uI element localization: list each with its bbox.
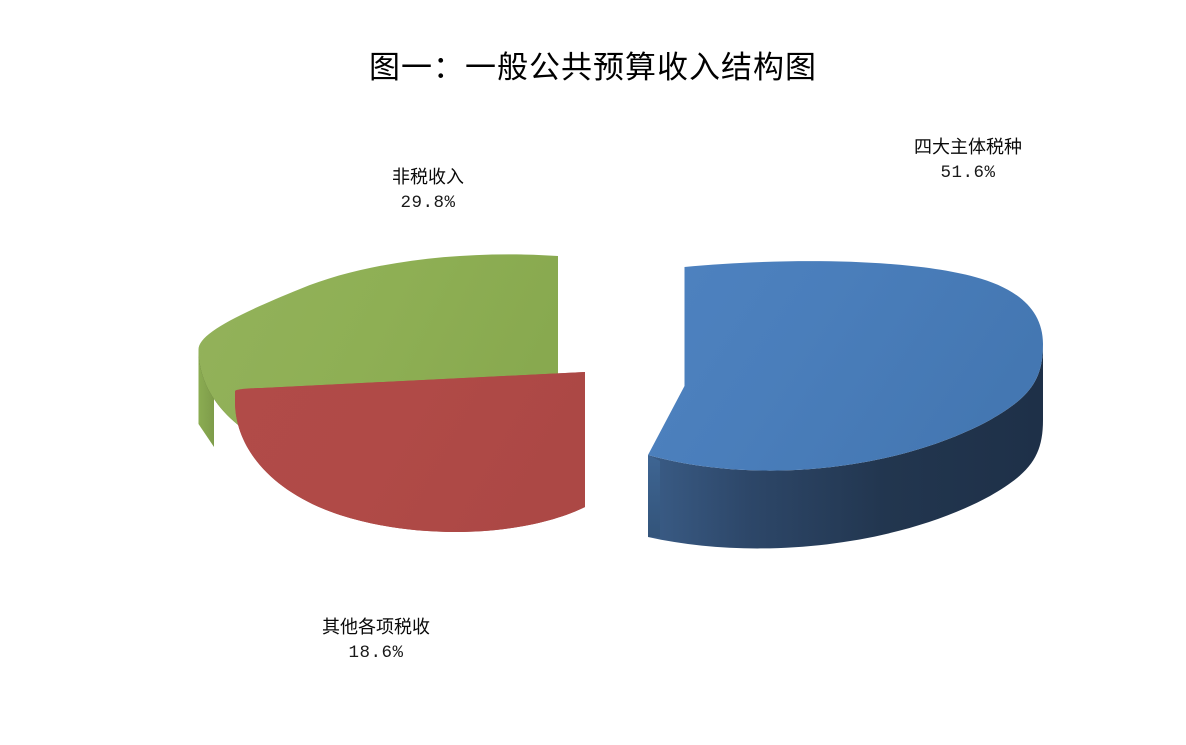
pie-slice-red-top-body	[235, 372, 585, 532]
slice-label-green: 非税收入 29.8%	[330, 166, 526, 214]
pie-slice-blue[interactable]	[648, 261, 1043, 548]
slice-label-green-name: 非税收入	[330, 166, 526, 189]
slice-label-red-name: 其他各项税收	[278, 616, 474, 639]
slice-label-red: 其他各项税收 18.6%	[278, 616, 474, 664]
pie-slice-blue-flank	[648, 455, 660, 537]
chart-page: 图一：一般公共预算收入结构图	[0, 0, 1186, 745]
slice-label-green-value: 29.8%	[330, 192, 526, 214]
pie-chart-3d	[0, 0, 1186, 745]
pie-slice-red[interactable]	[235, 372, 585, 532]
slice-label-blue: 四大主体税种 51.6%	[870, 136, 1066, 184]
slice-label-red-value: 18.6%	[278, 642, 474, 664]
slice-label-blue-name: 四大主体税种	[870, 136, 1066, 159]
slice-label-blue-value: 51.6%	[870, 162, 1066, 184]
